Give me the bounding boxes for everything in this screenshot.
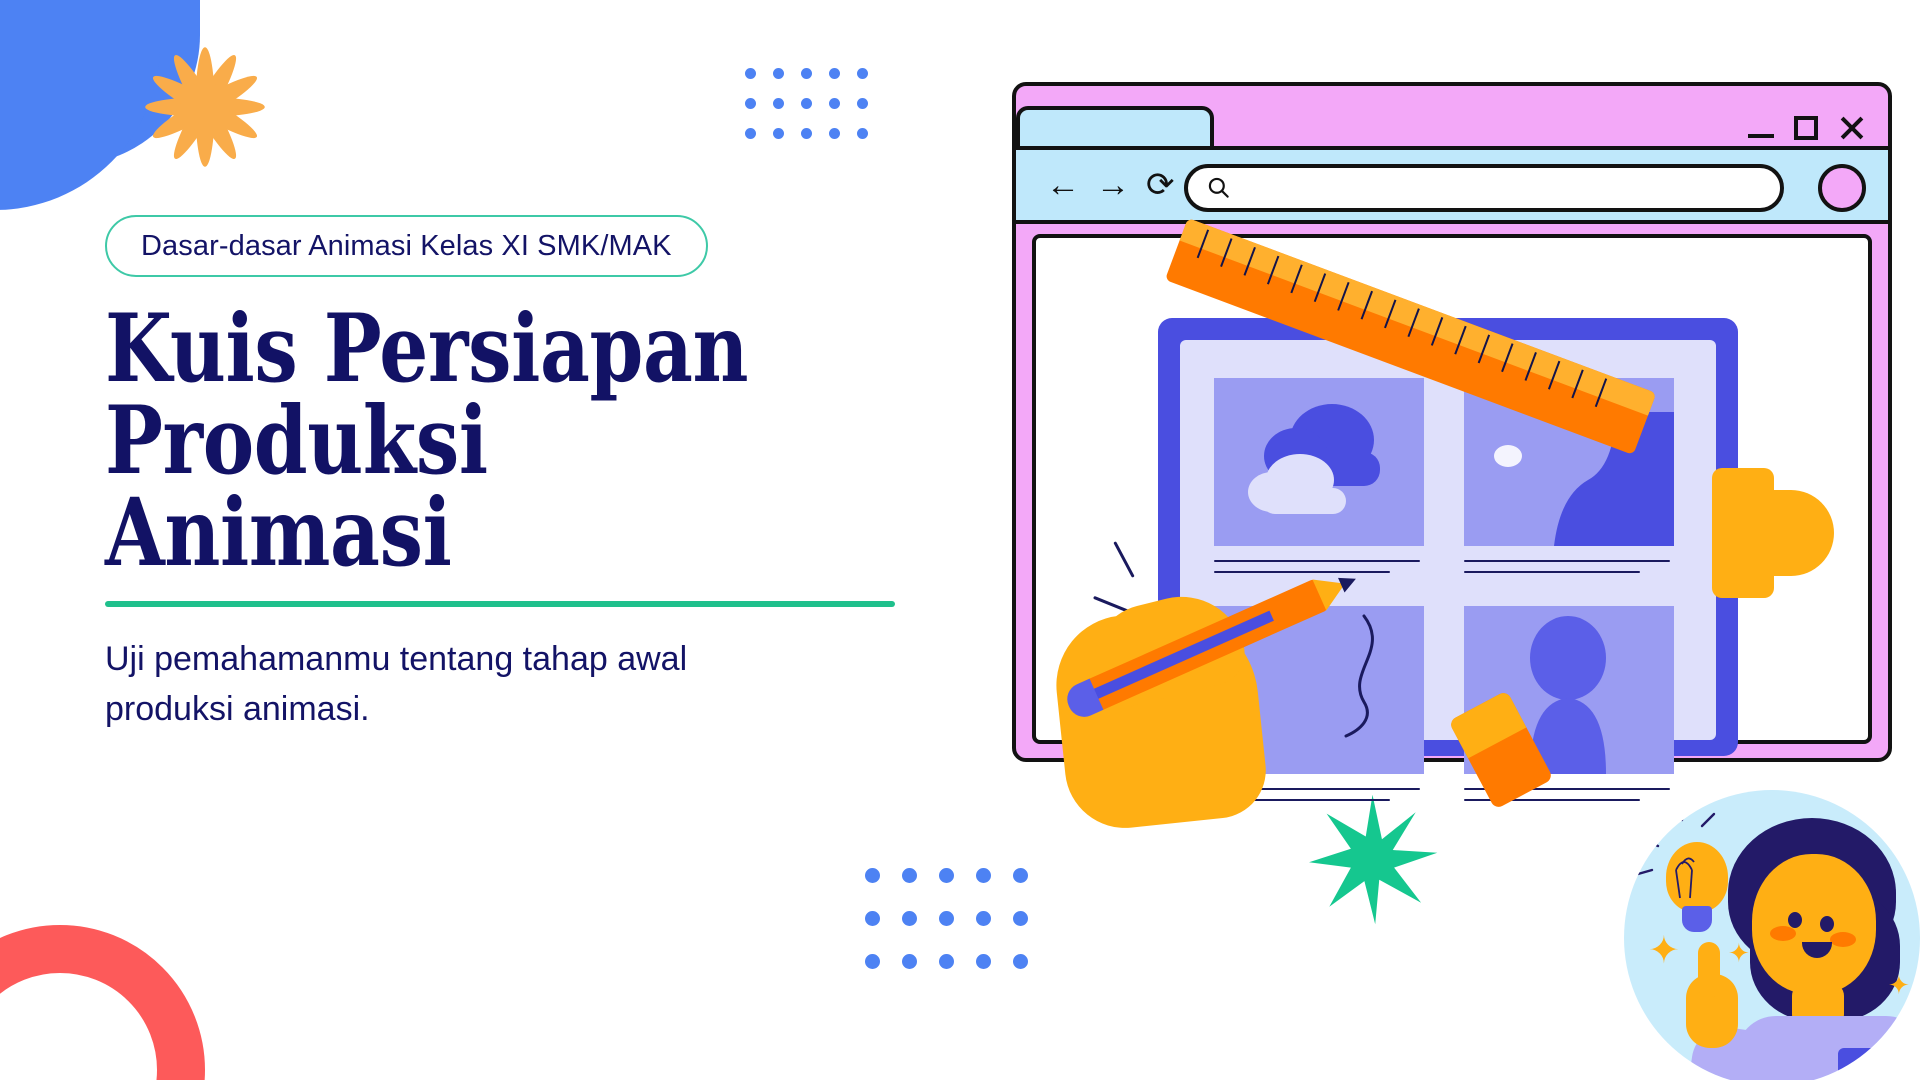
browser-nav-icons: ← → ⟳ <box>1046 168 1175 202</box>
pointing-finger <box>1698 942 1720 998</box>
blue-blob-shape <box>0 0 200 165</box>
cloud-icon <box>1214 378 1424 546</box>
cheek-right <box>1830 932 1856 947</box>
minimize-icon[interactable] <box>1748 134 1774 138</box>
clip-tab-object <box>1712 468 1774 598</box>
forward-arrow-icon[interactable]: → <box>1096 168 1130 202</box>
panel-clouds <box>1214 378 1424 546</box>
back-arrow-icon[interactable]: ← <box>1046 168 1080 202</box>
face <box>1752 854 1876 994</box>
red-ring-shape <box>0 925 205 1080</box>
search-input[interactable] <box>1184 164 1784 212</box>
page-subtitle: Uji pemahamanmu tentang tahap awal produ… <box>105 635 865 734</box>
title-divider <box>105 601 895 607</box>
green-star-icon <box>1305 792 1440 927</box>
lightbulb-rays <box>1632 812 1742 922</box>
eye-left <box>1788 912 1802 928</box>
sparkle-icon-2: ✦ <box>1728 940 1750 966</box>
dot-grid-top <box>745 68 885 158</box>
sparkle-icon-1: ✦ <box>1648 932 1680 970</box>
slide-canvas: Dasar-dasar Animasi Kelas XI SMK/MAK Kui… <box>0 0 1920 1080</box>
course-badge-label: Dasar-dasar Animasi Kelas XI SMK/MAK <box>141 230 672 263</box>
maximize-icon[interactable] <box>1794 116 1818 140</box>
reload-icon[interactable]: ⟳ <box>1146 168 1175 202</box>
blue-blob-shape-secondary <box>0 20 160 210</box>
search-icon <box>1206 175 1232 201</box>
orange-burst-icon <box>140 42 270 172</box>
idea-character: ✦ ✦ ✦ <box>1624 790 1920 1080</box>
window-controls <box>1748 106 1864 150</box>
eye-right <box>1820 916 1834 932</box>
dot-grid-bottom <box>865 868 1050 997</box>
caption-lines-2 <box>1464 560 1670 582</box>
avatar[interactable] <box>1818 164 1866 212</box>
shirt <box>1736 1016 1920 1080</box>
course-badge: Dasar-dasar Animasi Kelas XI SMK/MAK <box>105 215 708 277</box>
sparkle-icon-3: ✦ <box>1888 972 1910 998</box>
text-column: Dasar-dasar Animasi Kelas XI SMK/MAK Kui… <box>105 215 965 734</box>
page-title: Kuis Persiapan Produksi Animasi <box>105 303 810 579</box>
close-icon[interactable] <box>1838 115 1864 141</box>
shirt-pocket <box>1838 1048 1884 1080</box>
browser-toolbar: ← → ⟳ <box>1016 146 1888 224</box>
cheek-left <box>1770 926 1796 941</box>
